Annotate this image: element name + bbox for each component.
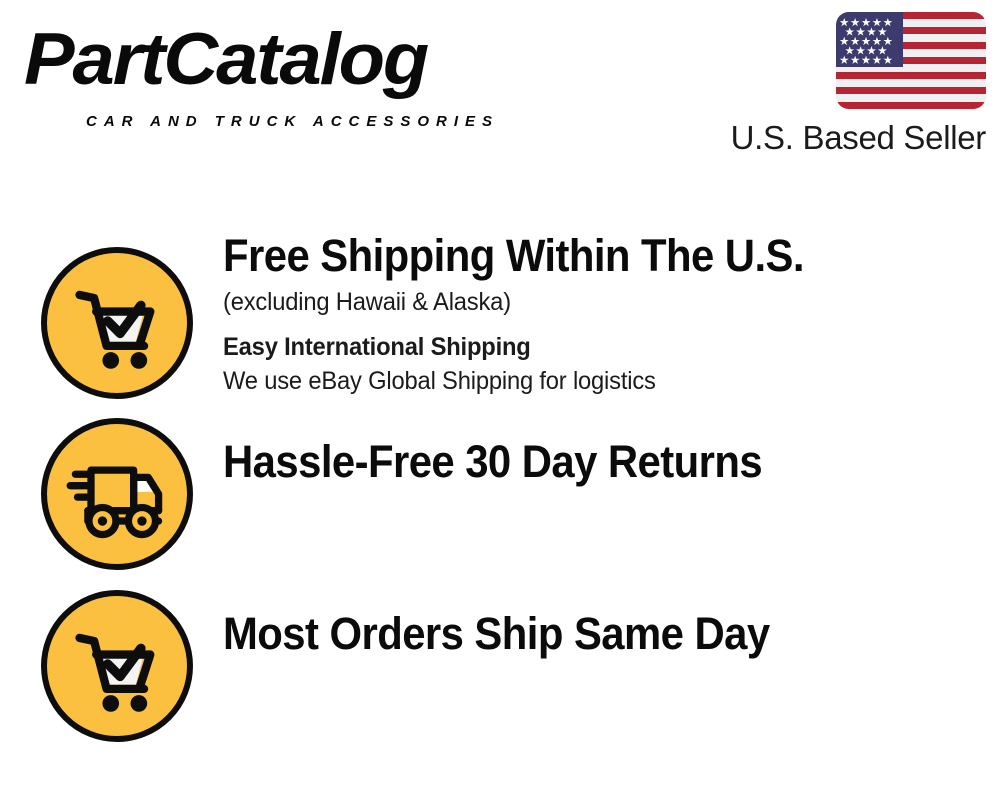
feature-headline: Hassle-Free 30 Day Returns [223, 436, 927, 488]
brand-wordmark: PartCatalog [24, 22, 427, 98]
flag-canton [836, 12, 903, 67]
feature-headline: Most Orders Ship Same Day [223, 608, 927, 660]
feature-headline: Free Shipping Within The U.S. [223, 230, 927, 282]
brand-logo[interactable]: PartCatalog CAR AND TRUCK ACCESSORIES [24, 22, 494, 117]
feature-row: Most Orders Ship Same Day [0, 548, 1000, 718]
feature-text-block: Hassle-Free 30 Day Returns [223, 436, 980, 488]
feature-row: Hassle-Free 30 Day Returns [0, 376, 1000, 546]
feature-subnote: (excluding Hawaii & Alaska) [223, 285, 942, 319]
brand-tagline: CAR AND TRUCK ACCESSORIES [86, 113, 499, 131]
page-header: PartCatalog CAR AND TRUCK ACCESSORIES [0, 0, 1000, 175]
feature-subheading: Easy International Shipping [223, 330, 942, 364]
feature-text-block: Most Orders Ship Same Day [223, 608, 980, 660]
us-based-seller-label: U.S. Based Seller [731, 118, 986, 158]
feature-row: Free Shipping Within The U.S. (excluding… [0, 205, 1000, 400]
us-flag-icon [836, 12, 986, 109]
us-based-seller-badge: U.S. Based Seller [714, 10, 986, 160]
shopping-cart-check-icon [41, 590, 193, 742]
feature-text-block: Free Shipping Within The U.S. (excluding… [223, 230, 980, 398]
